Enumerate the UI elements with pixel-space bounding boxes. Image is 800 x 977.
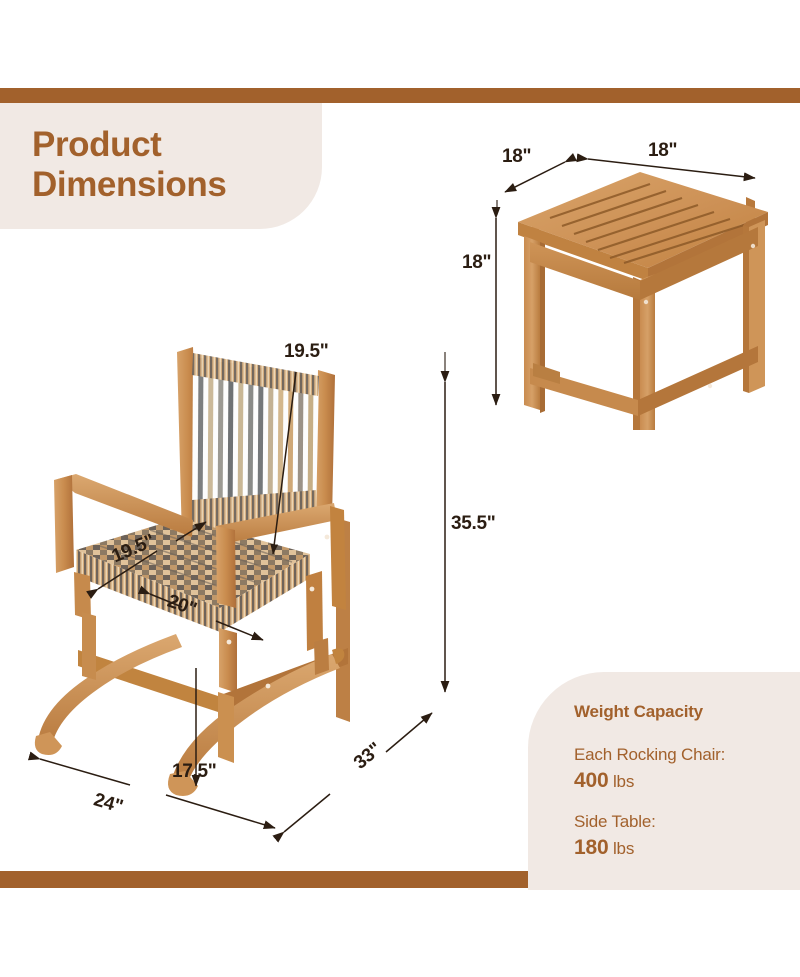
weight-capacity-item-chair: Each Rocking Chair: 400 lbs (574, 744, 725, 797)
weight-capacity-chair-value: 400 lbs (574, 766, 725, 796)
dim-seat-height: 17.5" (172, 761, 217, 783)
weight-capacity-table-value: 180 lbs (574, 833, 656, 863)
weight-capacity-table-unit: lbs (613, 839, 634, 858)
weight-capacity-panel: Weight Capacity Each Rocking Chair: 400 … (528, 672, 800, 890)
dim-overall-height: 35.5" (451, 513, 496, 535)
dim-backrest-width: 19.5" (284, 341, 329, 363)
dim-table-height: 18" (462, 252, 491, 274)
dim-table-width: 18" (648, 140, 677, 162)
weight-capacity-chair-unit: lbs (613, 772, 634, 791)
weight-capacity-table-label: Side Table: (574, 811, 656, 833)
weight-capacity-table-number: 180 (574, 836, 608, 859)
weight-capacity-chair-label: Each Rocking Chair: (574, 744, 725, 766)
weight-capacity-item-table: Side Table: 180 lbs (574, 811, 656, 864)
weight-capacity-heading: Weight Capacity (574, 702, 703, 722)
weight-capacity-chair-number: 400 (574, 769, 608, 792)
dim-table-depth: 18" (502, 146, 531, 168)
infographic-page: Product Dimensions (0, 0, 800, 977)
